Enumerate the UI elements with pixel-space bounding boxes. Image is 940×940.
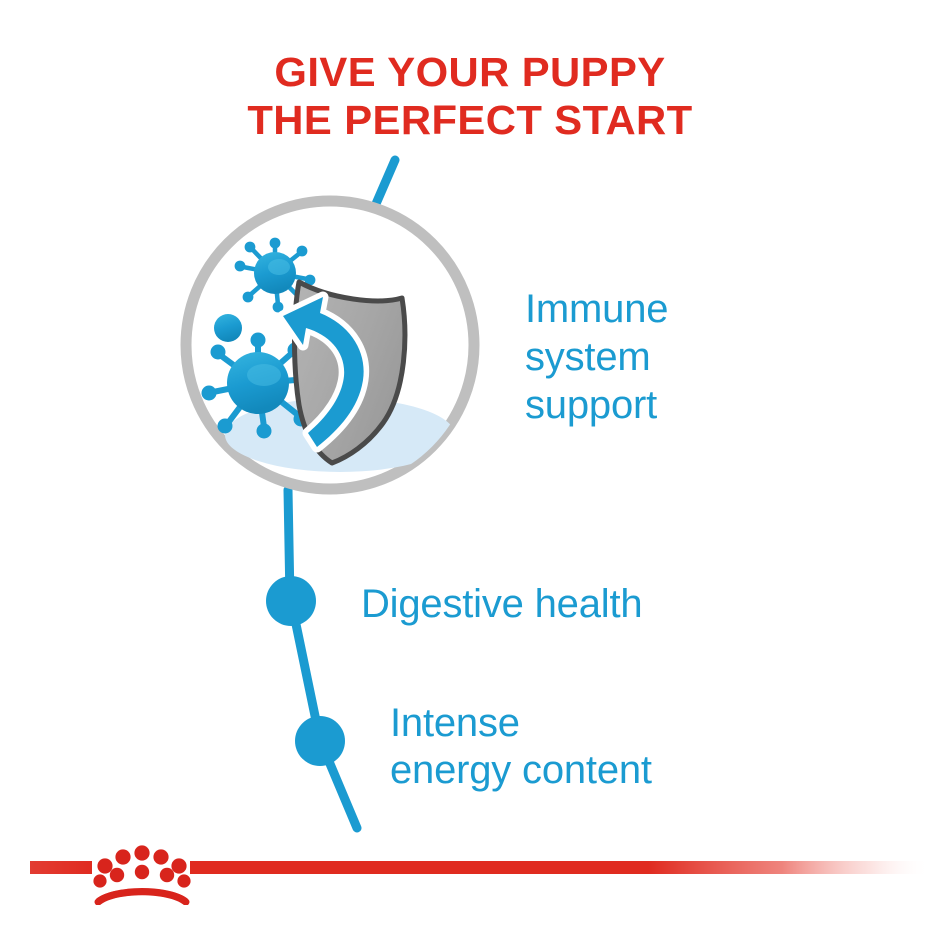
benefit-label-energy-line-1: Intense xyxy=(390,700,652,747)
bullet-dot-energy xyxy=(295,716,345,766)
headline-line-1: GIVE YOUR PUPPY xyxy=(0,48,940,96)
shield-virus-icon xyxy=(180,195,480,495)
brand-bar-left-segment xyxy=(30,861,92,874)
benefit-label-immune-line-1: Immune xyxy=(525,285,668,333)
promo-panel: GIVE YOUR PUPPY THE PERFECT START xyxy=(0,0,940,940)
germ-dot xyxy=(214,314,242,342)
page-title: GIVE YOUR PUPPY THE PERFECT START xyxy=(0,48,940,144)
brand-bar-right-segment xyxy=(190,861,930,874)
connector-segment-2 xyxy=(291,600,320,740)
brand-footer xyxy=(0,845,940,905)
benefit-label-digestive-line-1: Digestive health xyxy=(361,582,642,626)
connector-segment-1 xyxy=(288,490,290,600)
benefit-label-immune: Immune system support xyxy=(525,285,668,429)
benefit-label-digestive: Digestive health xyxy=(361,582,642,626)
benefit-label-immune-line-3: support xyxy=(525,381,668,429)
connector-segment-3 xyxy=(320,740,357,828)
headline-line-2: THE PERFECT START xyxy=(0,96,940,144)
royal-canin-crown-logo xyxy=(93,845,190,905)
bullet-dot-digestive xyxy=(266,576,316,626)
benefit-label-energy: Intense energy content xyxy=(390,700,652,794)
benefit-label-energy-line-2: energy content xyxy=(390,747,652,794)
benefit-label-immune-line-2: system xyxy=(525,333,668,381)
